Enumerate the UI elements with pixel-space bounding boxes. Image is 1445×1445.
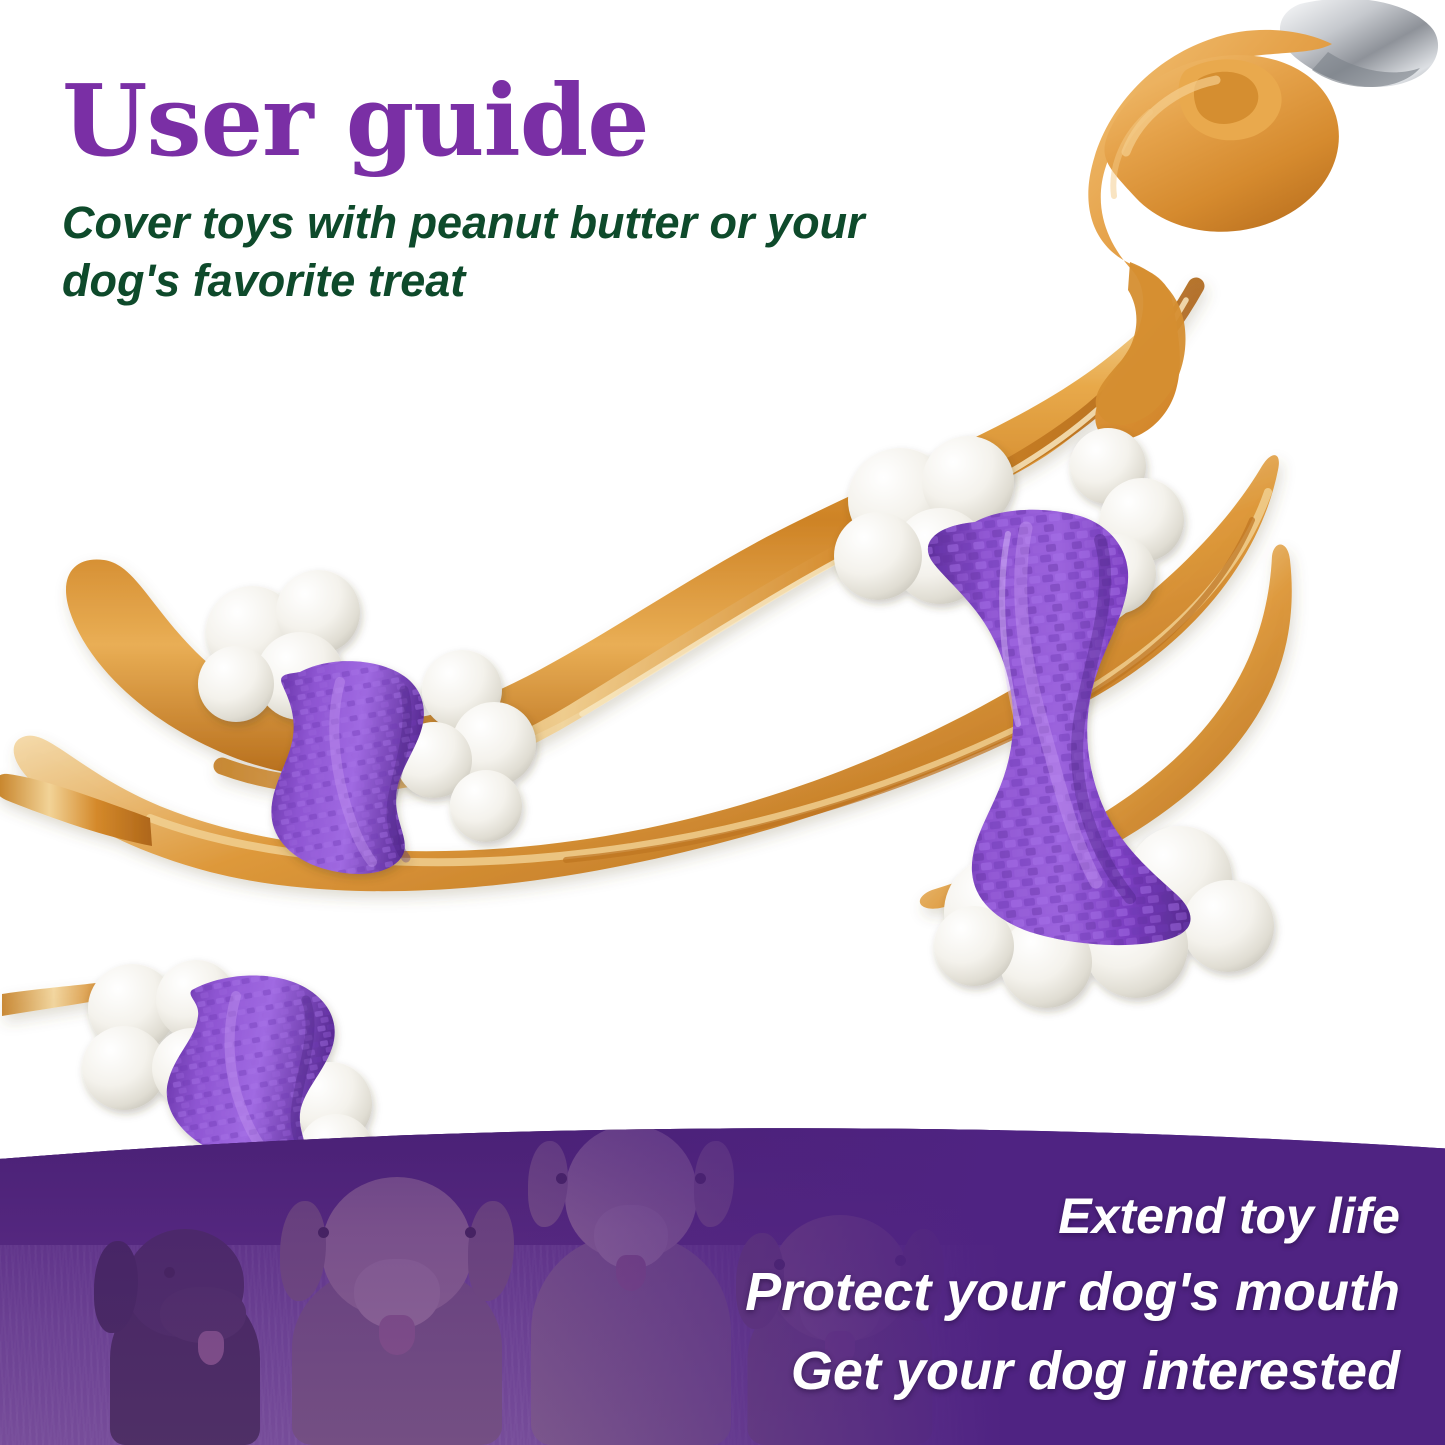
benefit-item-extend-toy-life: Extend toy life <box>745 1180 1400 1253</box>
benefits-list: Extend toy life Protect your dog's mouth… <box>745 1180 1400 1411</box>
bone-knob <box>396 650 536 842</box>
headline-block: User guide Cover toys with peanut butter… <box>62 72 942 311</box>
peanut-butter-spoon <box>1088 0 1438 441</box>
page-title: User guide <box>62 72 942 172</box>
bone-toy-right <box>834 428 1274 1008</box>
benefit-item-protect-mouth: Protect your dog's mouth <box>745 1253 1400 1332</box>
benefit-item-get-interested: Get your dog interested <box>745 1332 1400 1411</box>
page-subtitle: Cover toys with peanut butter or your do… <box>62 194 892 311</box>
product-infographic: User guide Cover toys with peanut butter… <box>0 0 1445 1445</box>
bone-shaft <box>271 661 423 874</box>
